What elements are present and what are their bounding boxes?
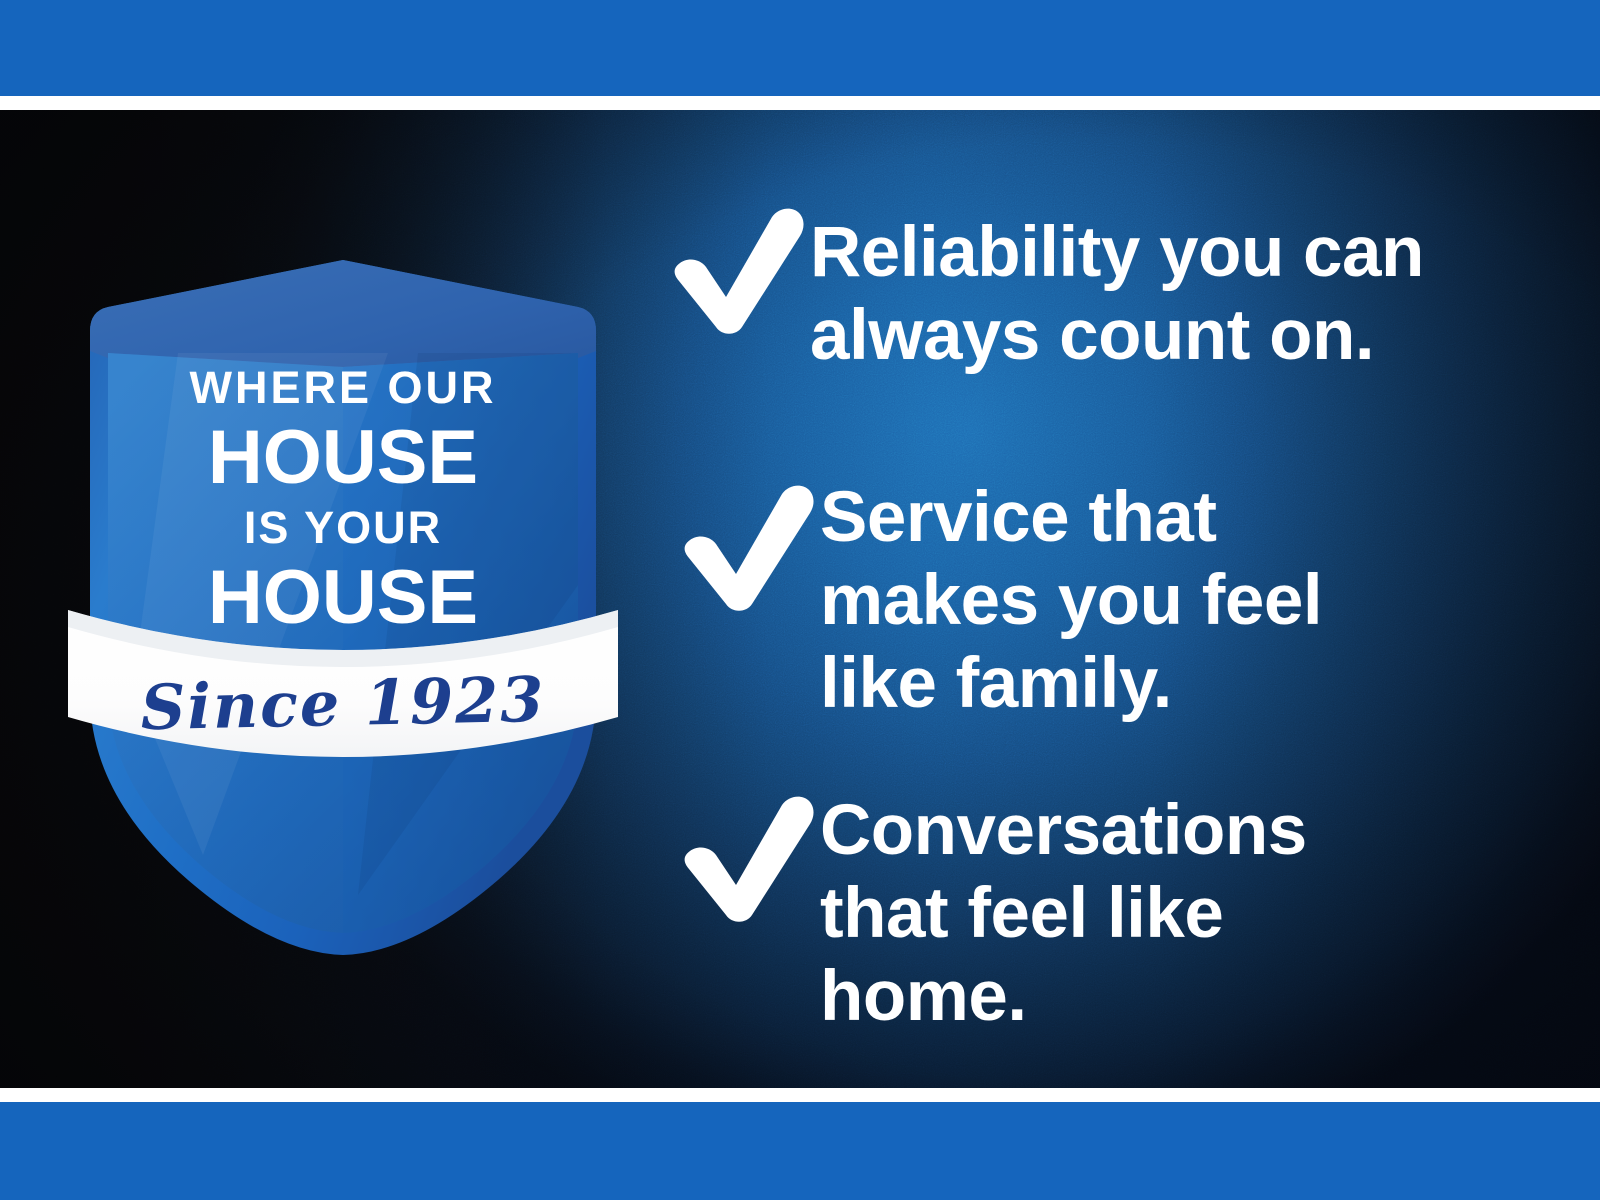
check-icon	[670, 482, 820, 612]
list-item-label: Conversations that feel like home.	[820, 789, 1440, 1038]
brand-bar-bottom	[0, 1102, 1600, 1200]
list-item: Conversations that feel like home.	[670, 783, 1440, 1038]
list-item: Reliability you can always count on.	[660, 205, 1510, 377]
brand-bar-top	[0, 0, 1600, 96]
divider-strip-top	[0, 96, 1600, 110]
divider-strip-bottom	[0, 1088, 1600, 1102]
list-item-label: Reliability you can always count on.	[810, 211, 1510, 377]
promo-graphic: Where Our House Is Your House Since 1923…	[0, 0, 1600, 1200]
list-item-label: Service that makes you feel like family.	[820, 476, 1440, 725]
check-icon	[670, 793, 820, 923]
shield-badge: Where Our House Is Your House Since 1923	[58, 255, 628, 955]
shield-badge-icon	[58, 255, 628, 955]
check-icon	[660, 205, 810, 335]
list-item: Service that makes you feel like family.	[670, 470, 1440, 725]
